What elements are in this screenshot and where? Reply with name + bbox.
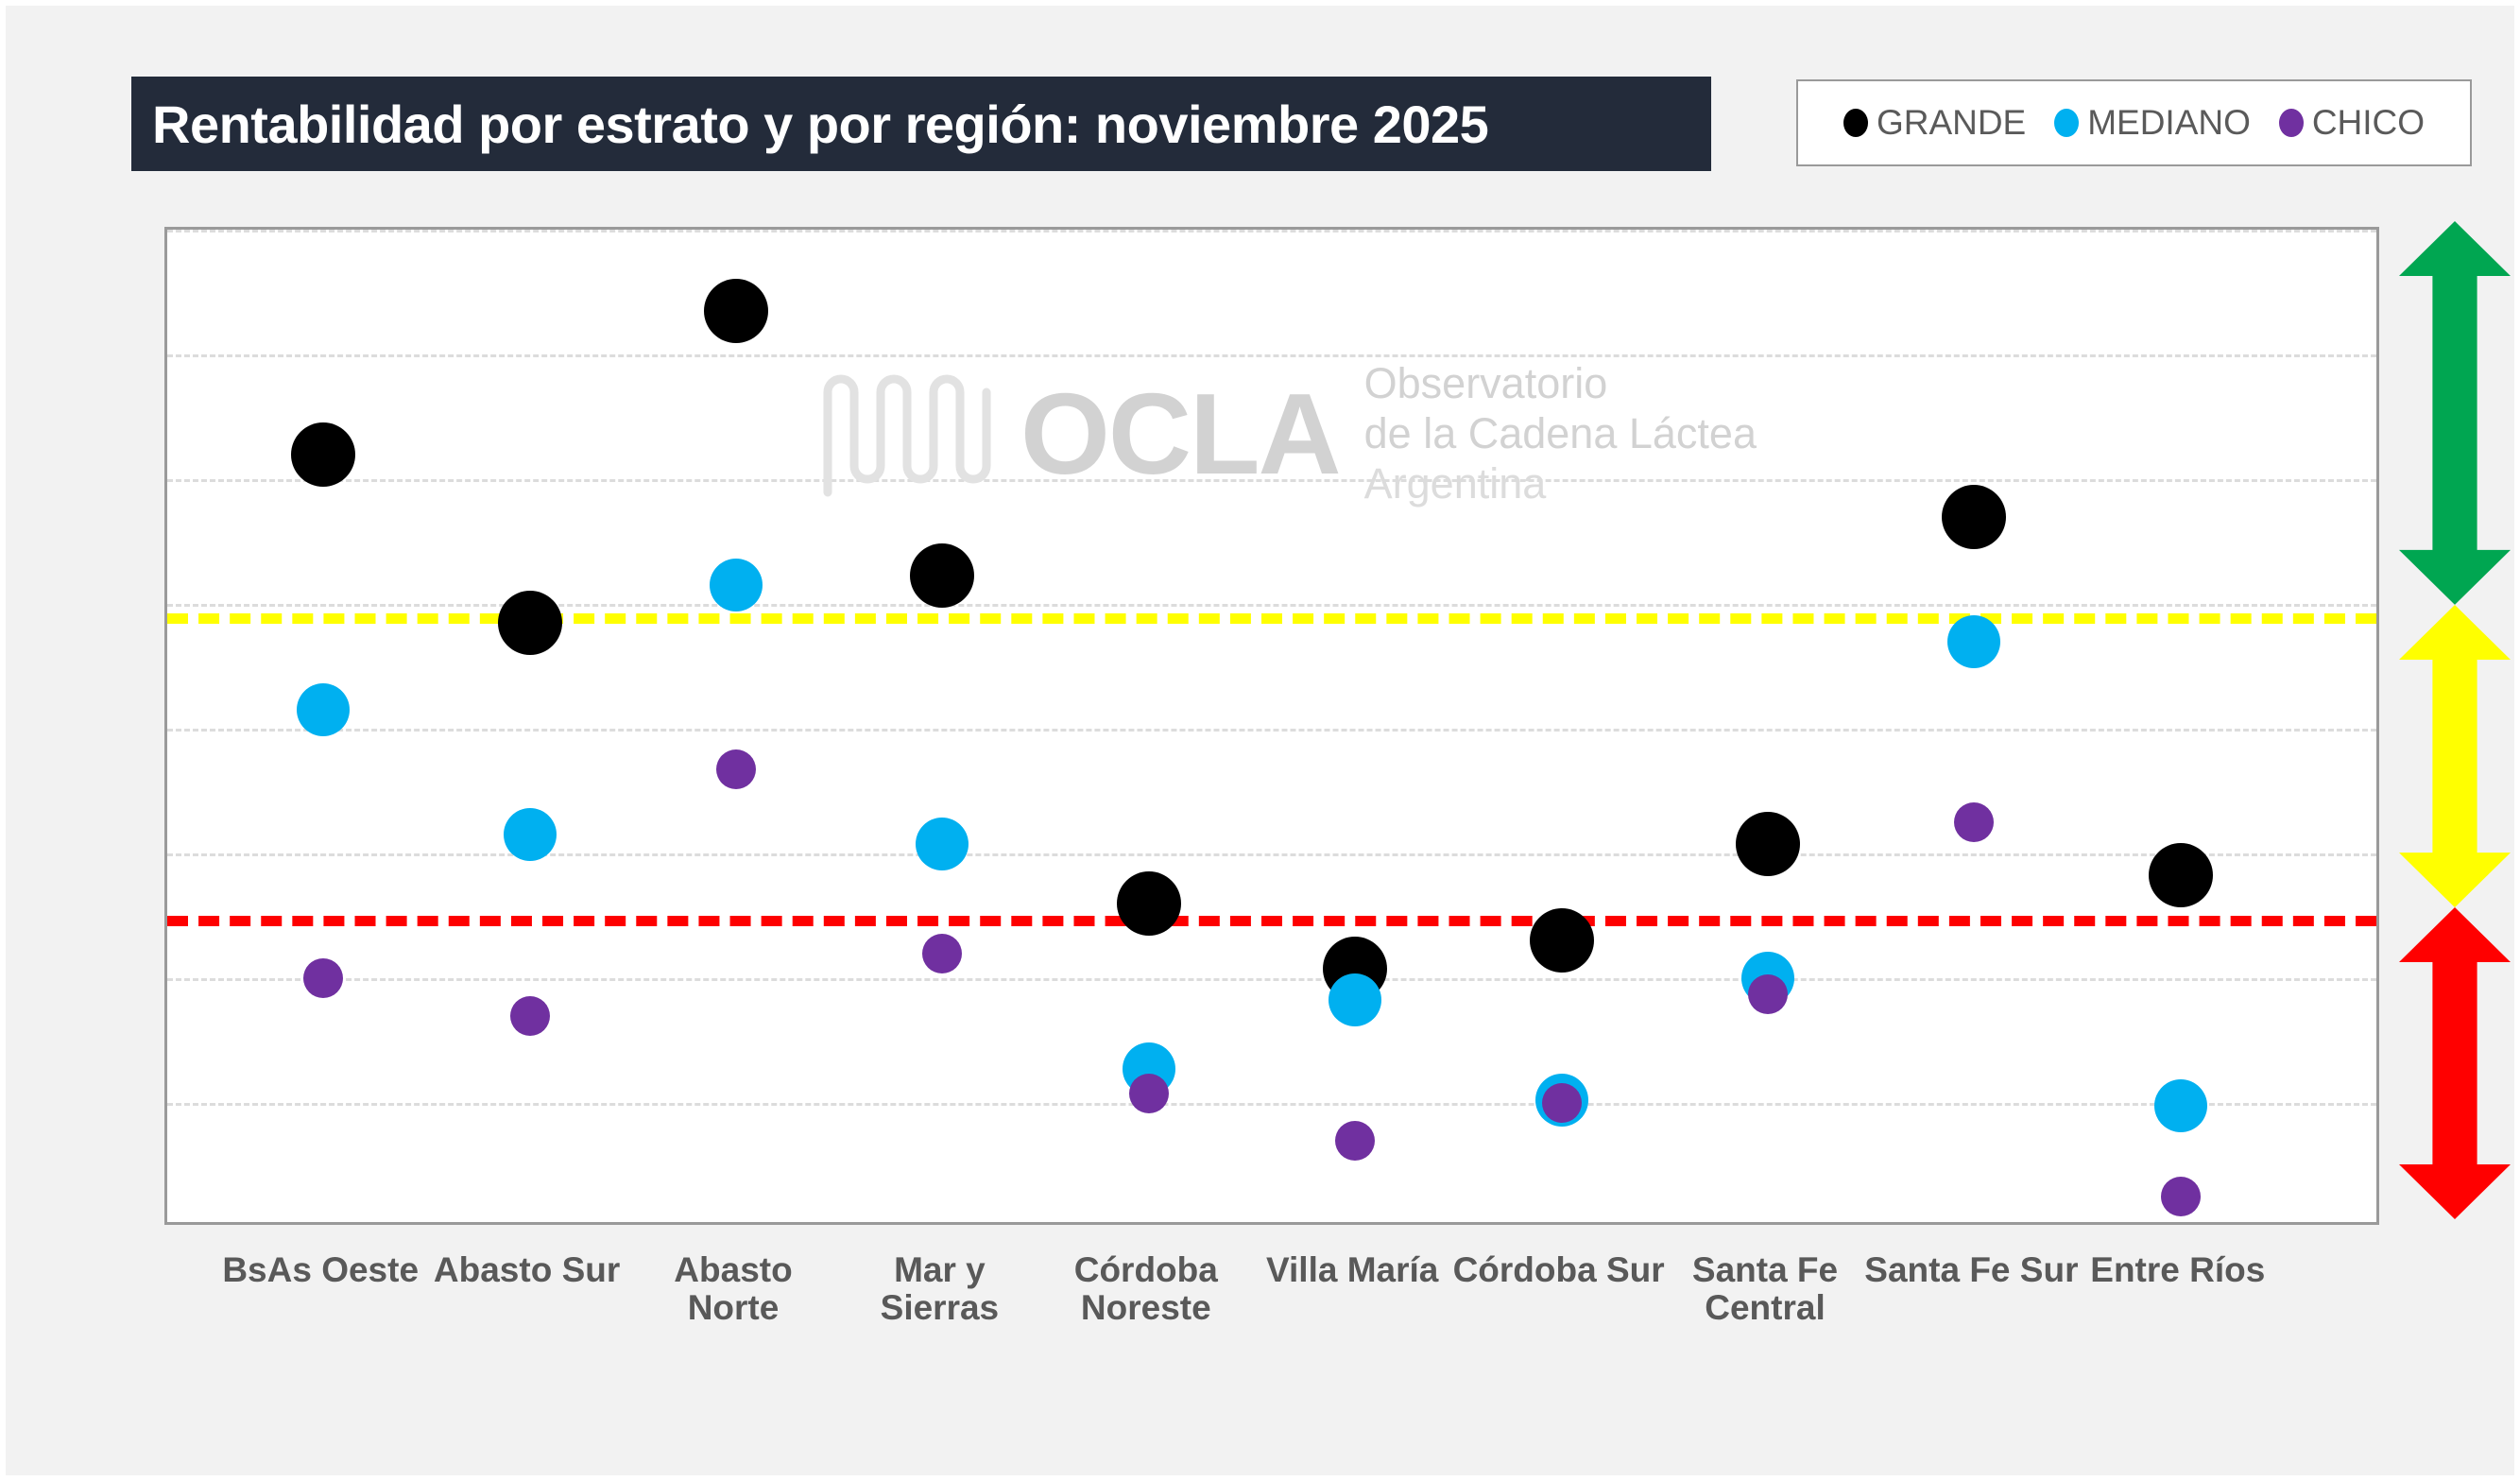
ocla-subtitle-line3: Argentina <box>1364 458 1757 508</box>
data-point-grande <box>1736 812 1800 876</box>
reference-arrow-scale <box>2399 221 2511 1228</box>
gridline <box>167 1103 2376 1106</box>
data-point-chico <box>1335 1121 1375 1161</box>
x-axis-tick-label: Abasto Norte <box>625 1251 842 1327</box>
gridline <box>167 604 2376 607</box>
ocla-brand: OCLA <box>1020 376 1340 491</box>
data-point-mediano <box>1947 615 2000 668</box>
legend-item-mediano: MEDIANO <box>2054 103 2251 143</box>
ocla-subtitle: Observatorio de la Cadena Láctea Argenti… <box>1364 358 1757 508</box>
ocla-subtitle-line2: de la Cadena Láctea <box>1364 408 1757 458</box>
legend-item-chico: CHICO <box>2279 103 2425 143</box>
data-point-mediano <box>504 808 557 861</box>
data-point-mediano <box>710 559 763 611</box>
data-point-grande <box>704 279 768 343</box>
data-point-grande <box>1117 871 1181 936</box>
gridline <box>167 853 2376 856</box>
data-point-chico <box>1748 974 1788 1014</box>
x-axis-tick-label: Villa María <box>1243 1251 1461 1289</box>
plot-inner: OCLA Observatorio de la Cadena Láctea Ar… <box>167 230 2376 1222</box>
data-point-chico <box>2161 1177 2201 1216</box>
x-axis-tick-label: Córdoba Noreste <box>1037 1251 1255 1327</box>
ocla-wave-logo-icon <box>816 360 996 507</box>
data-point-grande <box>291 422 355 487</box>
data-point-mediano <box>916 818 969 870</box>
x-axis-tick-label: Entre Ríos <box>2069 1251 2287 1289</box>
legend-swatch-mediano <box>2054 109 2079 137</box>
legend-swatch-grande <box>1843 109 1868 137</box>
data-point-grande <box>1942 485 2006 549</box>
green-arrow <box>2399 221 2511 605</box>
x-axis-tick-label: BsAs Oeste <box>212 1251 429 1289</box>
data-point-chico <box>716 749 756 789</box>
data-point-grande <box>1530 908 1594 973</box>
legend-swatch-chico <box>2279 109 2304 137</box>
gridline <box>167 230 2376 232</box>
x-axis-tick-label: Abasto Sur <box>419 1251 636 1289</box>
red-arrow <box>2399 907 2511 1219</box>
gridline <box>167 978 2376 981</box>
ocla-brand-text: OCLA <box>1020 376 1340 491</box>
ocla-subtitle-line1: Observatorio <box>1364 358 1757 408</box>
data-point-chico <box>510 996 550 1036</box>
x-axis-tick-label: Santa Fe Central <box>1656 1251 1874 1327</box>
data-point-chico <box>303 958 343 998</box>
data-point-chico <box>1542 1083 1582 1123</box>
page-title: Rentabilidad por estrato y por región: n… <box>152 94 1488 155</box>
gridline <box>167 729 2376 732</box>
ocla-watermark: OCLA Observatorio de la Cadena Láctea Ar… <box>816 358 1757 508</box>
data-point-mediano <box>1329 973 1381 1026</box>
legend-item-grande: GRANDE <box>1843 103 2026 143</box>
gridline <box>167 479 2376 482</box>
legend-label-mediano: MEDIANO <box>2087 103 2251 143</box>
legend-label-grande: GRANDE <box>1877 103 2026 143</box>
plot-area: OCLA Observatorio de la Cadena Láctea Ar… <box>164 227 2379 1225</box>
x-axis-tick-label: Mar y Sierras <box>831 1251 1048 1327</box>
data-point-grande <box>2149 843 2213 907</box>
chart-legend: GRANDE MEDIANO CHICO <box>1796 79 2472 166</box>
chart-title-bar: Rentabilidad por estrato y por región: n… <box>131 77 1711 171</box>
data-point-mediano <box>2154 1079 2207 1132</box>
yellow-arrow <box>2399 605 2511 907</box>
gridline <box>167 354 2376 357</box>
data-point-chico <box>1129 1074 1169 1113</box>
x-axis-tick-label: Córdoba Sur <box>1450 1251 1668 1289</box>
data-point-mediano <box>297 683 350 736</box>
data-point-chico <box>922 934 962 973</box>
data-point-grande <box>498 591 562 655</box>
x-axis-tick-label: Santa Fe Sur <box>1862 1251 2080 1289</box>
data-point-grande <box>910 543 974 608</box>
data-point-chico <box>1954 802 1994 842</box>
zero-reference-line <box>167 916 2376 926</box>
legend-label-chico: CHICO <box>2312 103 2425 143</box>
chart-canvas: Rentabilidad por estrato y por región: n… <box>0 0 2520 1481</box>
